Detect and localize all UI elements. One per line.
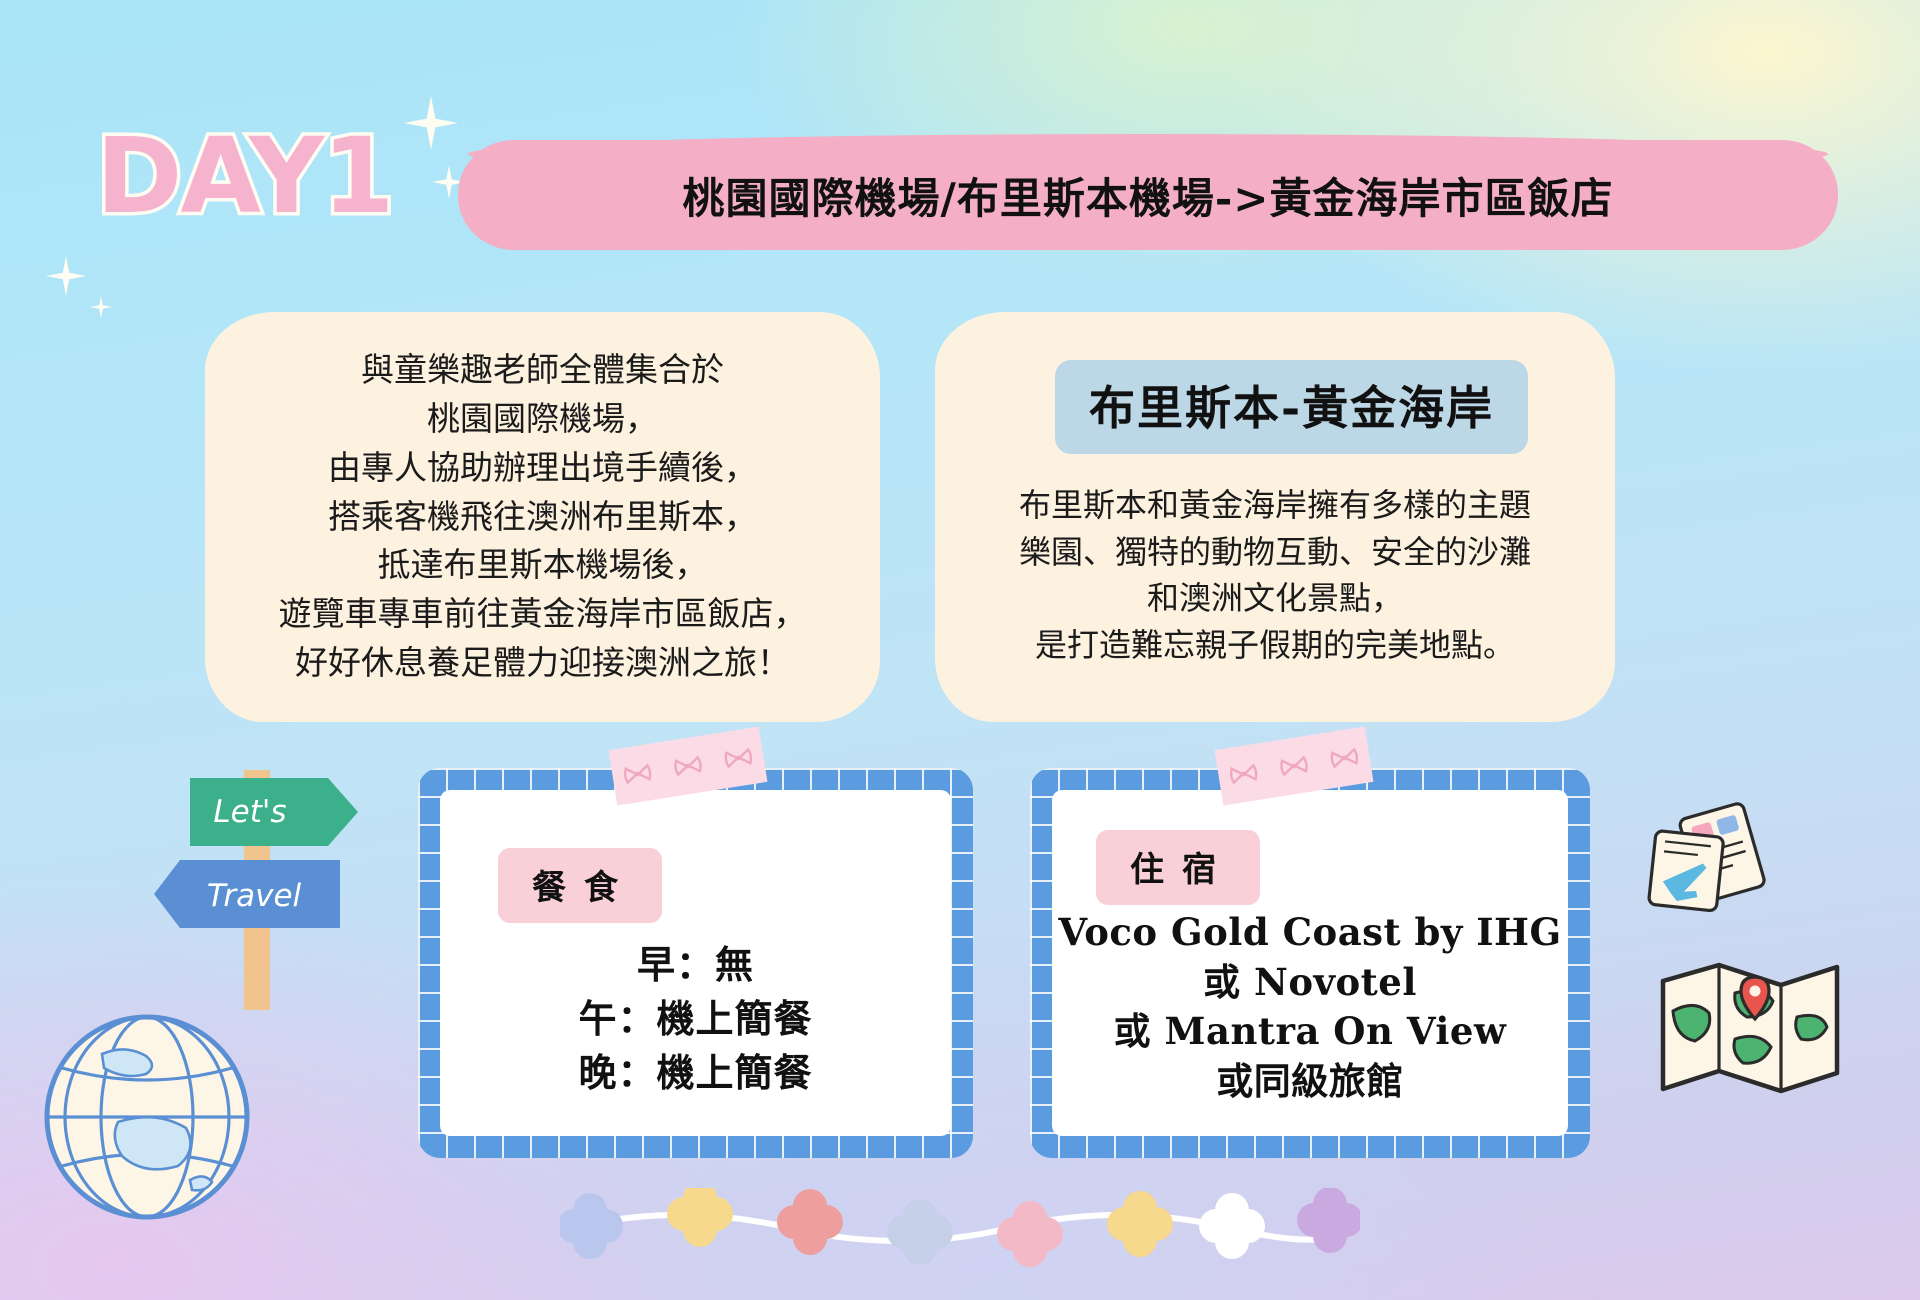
intro-card: 與童樂趣老師全體集合於 桃園國際機場， 由專人協助辦理出境手續後， 搭乘客機飛往… [205, 312, 880, 722]
bow-icon [622, 762, 655, 786]
region-badge: 布里斯本-黃金海岸 [1055, 360, 1528, 454]
intro-text: 與童樂趣老師全體集合於 桃園國際機場， 由專人協助辦理出境手續後， 搭乘客機飛往… [265, 346, 821, 688]
accommodation-card-inner: 住宿 Voco Gold Coast by IHG 或 Novotel 或 Ma… [1052, 790, 1568, 1136]
region-card: 布里斯本-黃金海岸 布里斯本和黃金海岸擁有多樣的主題 樂園、獨特的動物互動、安全… [935, 312, 1615, 722]
sparkle-icon [404, 96, 458, 150]
meal-section-title: 餐食 [498, 848, 662, 923]
bow-icon [1328, 746, 1361, 770]
accommodation-card: 住宿 Voco Gold Coast by IHG 或 Novotel 或 Ma… [1030, 768, 1590, 1158]
signpost-bottom-label: Travel [207, 878, 302, 914]
globe-icon [40, 1010, 255, 1225]
day-label: DAY1 [96, 124, 393, 228]
accommodation-list: Voco Gold Coast by IHG 或 Novotel 或 Mantr… [1052, 908, 1568, 1106]
sparkle-icon [46, 256, 86, 296]
bow-icon [722, 746, 755, 770]
airline-ticket-icon [1640, 800, 1775, 930]
flower-garland-icon [560, 1188, 1360, 1283]
signpost-icon: Let's Travel [150, 760, 380, 1010]
header-title: 桃園國際機場/布里斯本機場->黃金海岸市區飯店 [683, 165, 1614, 226]
region-text: 布里斯本和黃金海岸擁有多樣的主題 樂園、獨特的動物互動、安全的沙灘 和澳洲文化景… [959, 482, 1591, 669]
accommodation-section-title: 住宿 [1096, 830, 1260, 905]
world-map-icon [1655, 955, 1845, 1100]
meal-card-inner: 餐食 早：無 午：機上簡餐 晚：機上簡餐 [440, 790, 951, 1136]
meal-card: 餐食 早：無 午：機上簡餐 晚：機上簡餐 [418, 768, 973, 1158]
itinerary-poster: DAY1 桃園國際機場/布里斯本機場->黃金海岸市區飯店 與童樂趣老師全體集合於… [0, 0, 1920, 1300]
bow-icon [672, 754, 705, 778]
meal-list: 早：無 午：機上簡餐 晚：機上簡餐 [440, 938, 951, 1100]
signpost-top-label: Let's [213, 794, 286, 830]
sparkle-icon [90, 296, 112, 318]
bow-icon [1228, 762, 1261, 786]
bow-icon [1278, 754, 1311, 778]
header-banner: 桃園國際機場/布里斯本機場->黃金海岸市區飯店 [458, 140, 1838, 250]
